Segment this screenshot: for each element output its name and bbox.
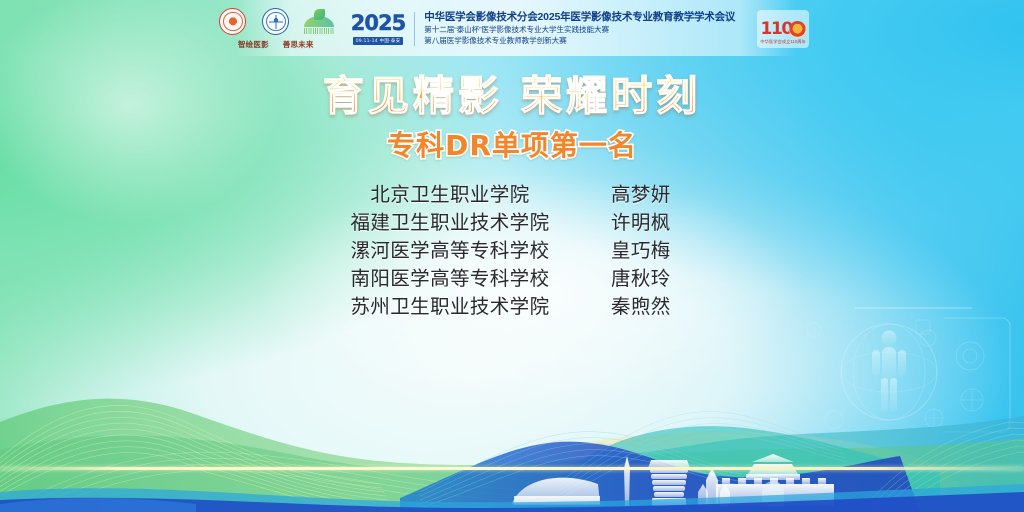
winner-school: 南阳医学高等专科学校: [347, 266, 553, 294]
year-logo-dateline: 09.11-14 中国·泰安: [353, 37, 404, 45]
logo-caption-right: 善思未来: [283, 39, 314, 50]
winner-school: 福建卫生职业技术学院: [347, 210, 553, 238]
winner-row: 北京卫生职业学院高梦妍: [347, 182, 677, 210]
header-divider: [414, 12, 415, 46]
poster-header: 智绘医影 善思未来 2025 09.11-14 中国·泰安 中华医学会影像技术分…: [0, 0, 1024, 58]
winner-person: 秦煦然: [611, 294, 671, 322]
year-logo: 2025 09.11-14 中国·泰安: [347, 13, 414, 45]
year-logo-number: 2025: [351, 13, 405, 34]
green-sprout-icon: [304, 8, 334, 34]
winner-person: 许明枫: [611, 210, 671, 238]
logo-caption-left: 智绘医影: [238, 39, 269, 50]
winner-school: 苏州卫生职业技术学院: [347, 294, 553, 322]
anniversary-caption: 中华医学会成立110周年: [757, 39, 809, 45]
title-block: 育见精影 荣耀时刻 专科DR单项第一名: [0, 74, 1024, 164]
anniversary-logo: 110 中华医学会成立110周年: [757, 10, 809, 48]
anniversary-emblem-icon: [789, 21, 806, 38]
conference-titles: 中华医学会影像技术分会2025年医学影像技术专业教育教学学术会议 第十二届“泰山…: [424, 12, 735, 45]
conference-title-line1: 中华医学会影像技术分会2025年医学影像技术专业教育教学学术会议: [424, 12, 735, 24]
winner-list: 北京卫生职业学院高梦妍福建卫生职业技术学院许明枫漯河医学高等专科学校皇巧梅南阳医…: [0, 182, 1024, 321]
main-title: 育见精影 荣耀时刻: [0, 74, 1024, 120]
winner-row: 苏州卫生职业技术学院秦煦然: [347, 294, 677, 322]
winner-person: 唐秋玲: [611, 266, 671, 294]
cma-seal-icon: [219, 8, 246, 35]
conference-title-line2: 第十二届“泰山杯”医学影像技术专业大学生实践技能大赛: [424, 26, 735, 34]
organizer-logos: 智绘医影 善思未来: [215, 8, 347, 50]
conference-title-line3: 第八届医学影像技术专业教师教学创新大赛: [424, 37, 735, 45]
imaging-seal-icon: [262, 8, 289, 35]
eco-green-logo: [301, 8, 337, 34]
winner-row: 漯河医学高等专科学校皇巧梅: [347, 238, 677, 266]
winner-school: 北京卫生职业学院: [347, 182, 553, 210]
winner-school: 漯河医学高等专科学校: [347, 238, 553, 266]
poster-canvas: 智绘医影 善思未来 2025 09.11-14 中国·泰安 中华医学会影像技术分…: [0, 0, 1024, 512]
anniversary-number: 110: [761, 21, 792, 38]
cma-seal-logo: [215, 8, 251, 35]
imaging-seal-logo: [258, 8, 294, 35]
winner-row: 南阳医学高等专科学校唐秋玲: [347, 266, 677, 294]
mountain-contour-skyline: [0, 372, 1024, 512]
gold-divider-line: [0, 467, 1024, 470]
winner-row: 福建卫生职业技术学院许明枫: [347, 210, 677, 238]
sub-title: 专科DR单项第一名: [0, 124, 1024, 164]
winner-person: 皇巧梅: [611, 238, 671, 266]
winner-person: 高梦妍: [611, 182, 671, 210]
